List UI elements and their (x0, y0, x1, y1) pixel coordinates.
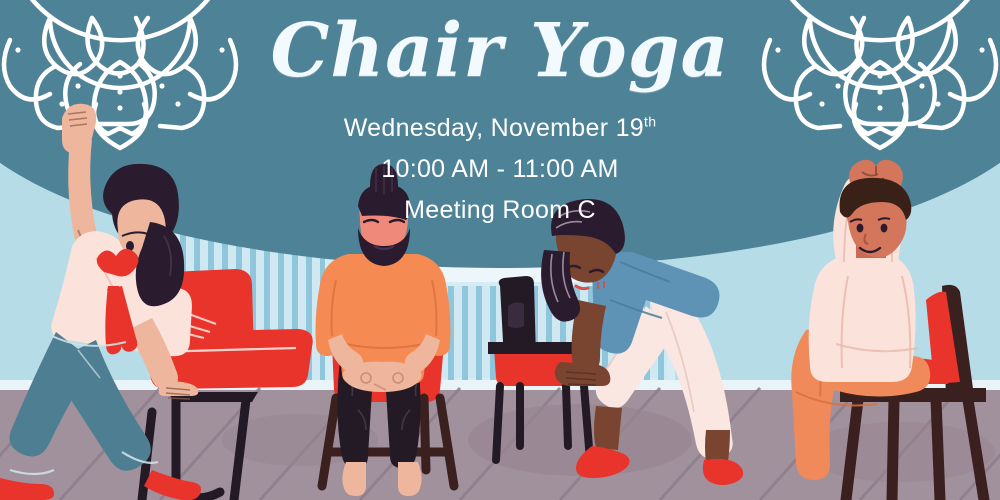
floor-shadow-right (805, 422, 995, 482)
chair-yoga-poster: Chair Yoga Wednesday, November 19th 10:0… (0, 0, 1000, 500)
poster-illustration (0, 0, 1000, 500)
